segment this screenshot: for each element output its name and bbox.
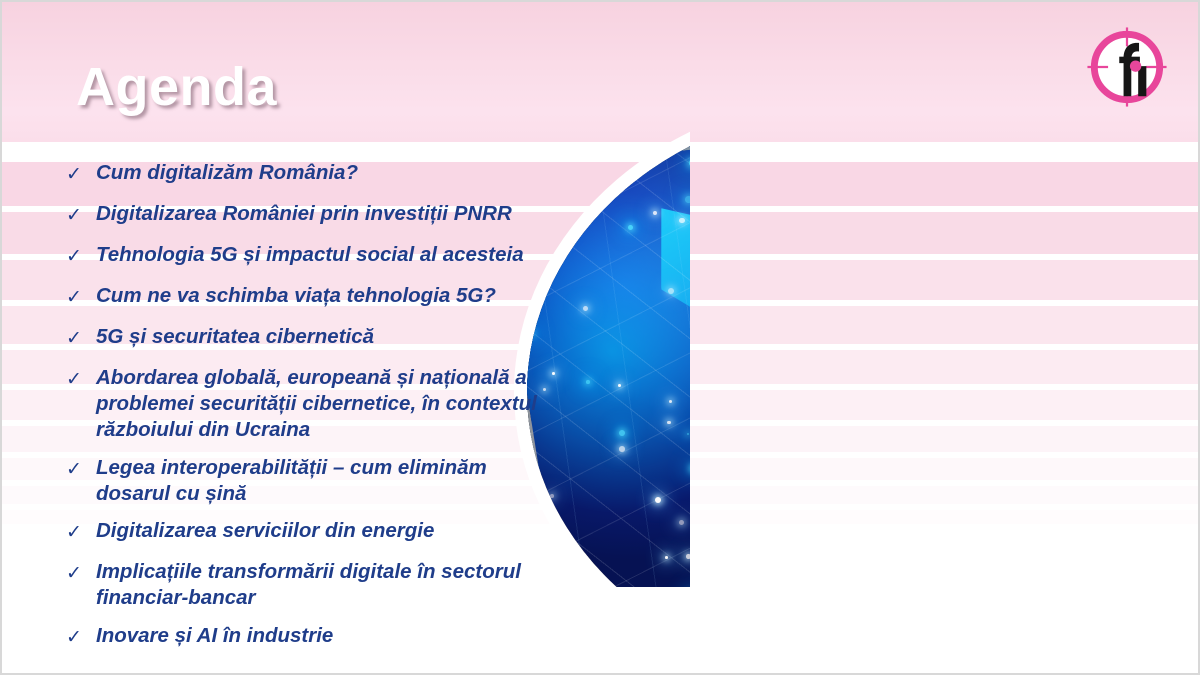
agenda-item: ✓Abordarea globală, europeană și naționa… [60,365,560,444]
network-node [618,384,621,387]
logo-center-dot [1130,60,1141,71]
check-icon: ✓ [60,623,96,653]
check-icon: ✓ [60,283,96,313]
agenda-item: ✓Cum ne va schimba viața tehnologia 5G? [60,283,560,313]
check-icon: ✓ [60,242,96,272]
check-icon: ✓ [60,324,96,354]
agenda-item-label: Tehnologia 5G și impactul social al aces… [96,242,560,268]
network-node [689,160,690,165]
agenda-item: ✓Tehnologia 5G și impactul social al ace… [60,242,560,272]
network-node [685,196,690,203]
agenda-item-label: Digitalizarea României prin investiții P… [96,201,560,227]
network-node [651,124,657,130]
agenda-item: ✓Legea interoperabilității – cum elimină… [60,455,560,507]
network-node [559,223,564,228]
agenda-item: ✓5G și securitatea cibernetică [60,324,560,354]
network-node [578,200,585,207]
agenda-item: ✓Digitalizarea României prin investiții … [60,201,560,231]
slide: GLOBAL Agenda ✓Cum digitalizăm Rom [0,0,1200,675]
check-icon: ✓ [60,518,96,548]
network-node [665,556,668,559]
check-icon: ✓ [60,559,96,589]
check-icon: ✓ [60,201,96,231]
agenda-item-label: Inovare și AI în industrie [96,623,560,649]
check-icon: ✓ [60,455,96,485]
agenda-item-label: Implicațiile transformării digitale în s… [96,559,560,611]
network-node [560,550,567,557]
check-icon: ✓ [60,160,96,190]
agenda-item: ✓Implicațiile transformării digitale în … [60,559,560,611]
network-node [669,400,672,403]
agenda-item-label: Digitalizarea serviciilor din energie [96,518,560,544]
network-node [582,140,588,146]
network-node [573,106,580,113]
fi-logo[interactable] [1084,24,1170,110]
logo-letter-i [1138,66,1146,96]
network-node [628,225,633,230]
network-node [586,380,590,384]
agenda-item: ✓Cum digitalizăm România? [60,160,560,190]
agenda-item-label: Cum ne va schimba viața tehnologia 5G? [96,283,560,309]
network-node [686,554,690,559]
agenda-item-label: Cum digitalizăm România? [96,160,560,186]
agenda-item-label: Abordarea globală, europeană și național… [96,365,560,444]
agenda-item-label: Legea interoperabilității – cum eliminăm… [96,455,560,507]
network-node [619,446,625,452]
check-icon: ✓ [60,365,96,395]
agenda-item: ✓Digitalizarea serviciilor din energie [60,518,560,548]
agenda-item: ✓Inovare și AI în industrie [60,623,560,653]
agenda-list: ✓Cum digitalizăm România?✓Digitalizarea … [60,160,560,664]
page-title: Agenda [76,56,277,118]
agenda-item-label: 5G și securitatea cibernetică [96,324,560,350]
